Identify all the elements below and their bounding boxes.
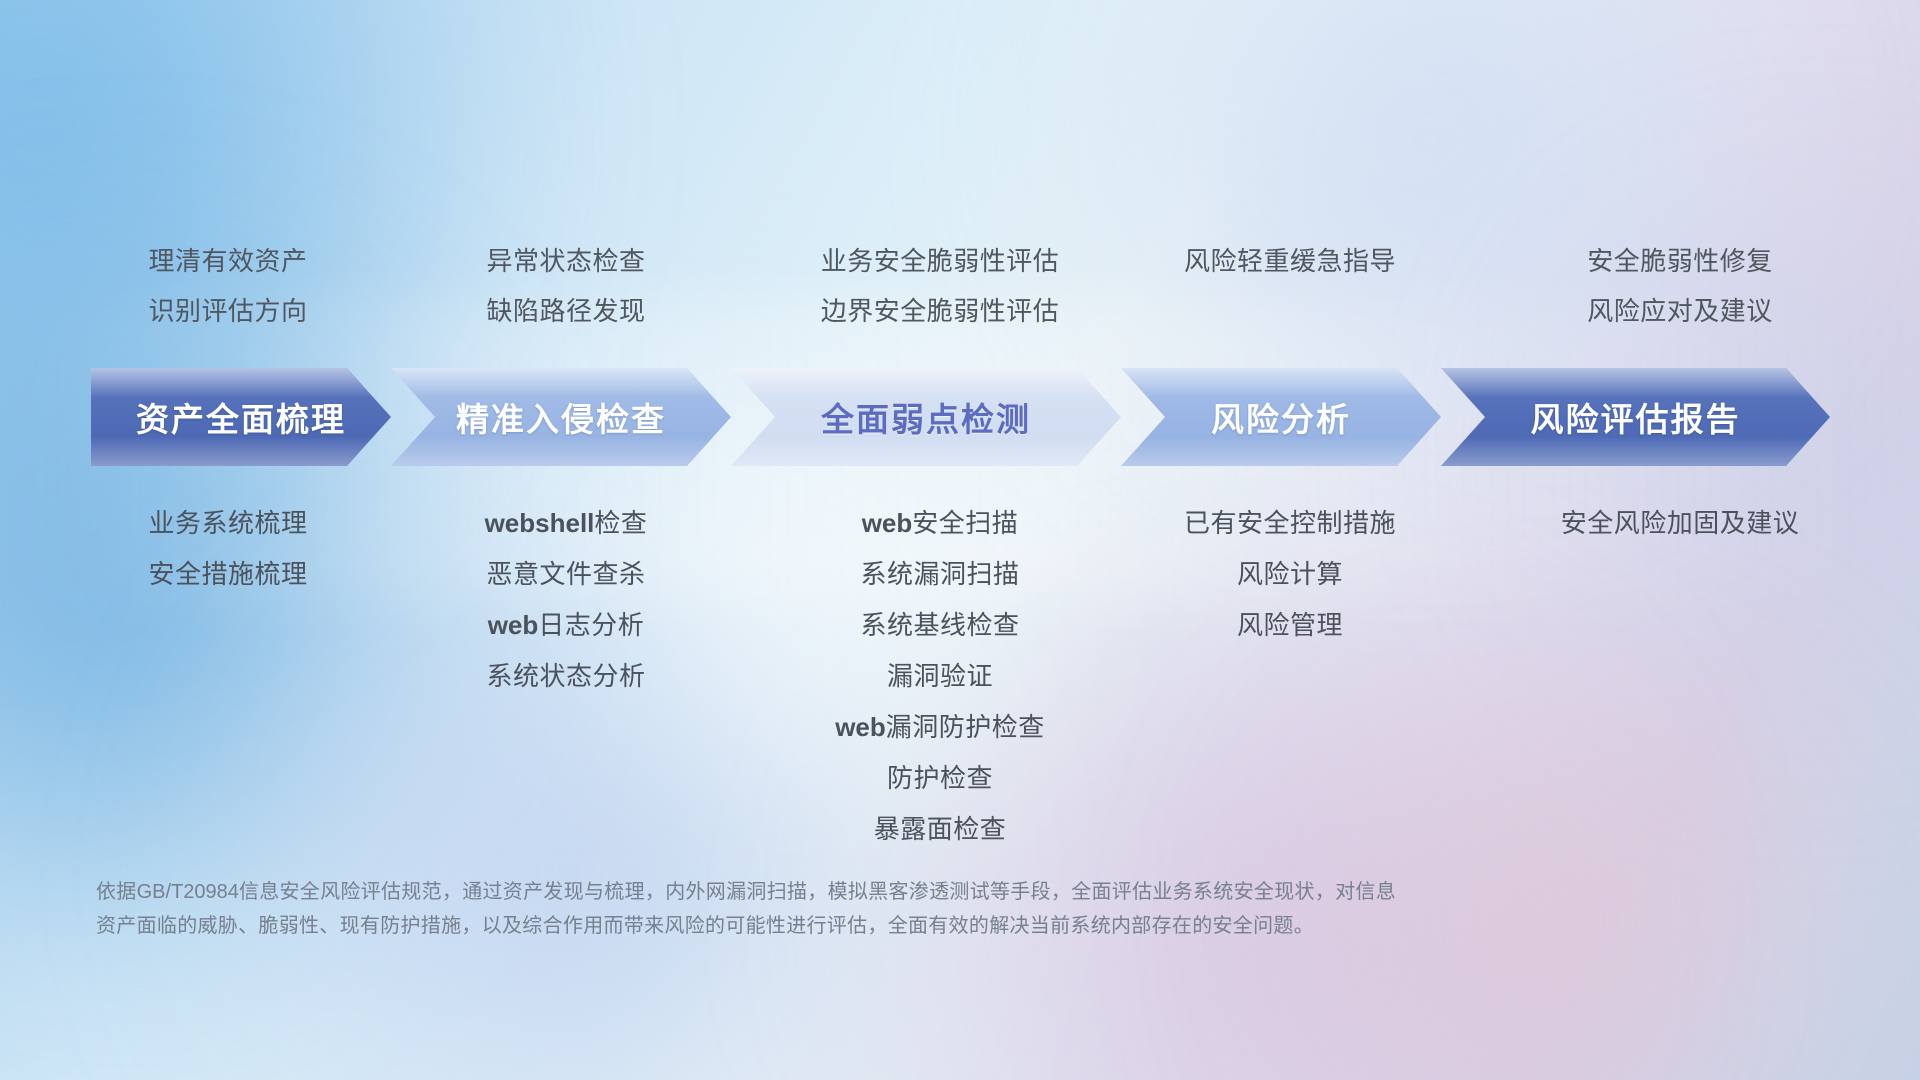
stage-item: 风险管理 [990, 600, 1590, 651]
footer-description: 依据GB/T20984信息安全风险评估规范，通过资产发现与梳理，内外网漏洞扫描，… [96, 875, 1656, 943]
stage-arrow-3[interactable]: 全面弱点检测 [731, 368, 1121, 466]
stage-items-5: 安全风险加固及建议 [1380, 498, 1920, 549]
stage-arrow-label: 全面弱点检测 [821, 393, 1031, 441]
stage-item: 风险计算 [990, 549, 1590, 600]
stage-arrow-label: 资产全面梳理 [136, 393, 346, 441]
top-note: 风险应对及建议 [1380, 286, 1920, 336]
stage-item: 暴露面检查 [640, 804, 1240, 855]
stage-item: 防护检查 [640, 753, 1240, 804]
diagram-canvas: 理清有效资产 识别评估方向 异常状态检查 缺陷路径发现 业务安全脆弱性评估 边界… [0, 0, 1920, 1080]
top-note: 边界安全脆弱性评估 [640, 286, 1240, 336]
stage-arrow-4[interactable]: 风险分析 [1121, 368, 1441, 466]
stage-arrow-5[interactable]: 风险评估报告 [1441, 368, 1830, 466]
footer-line: 资产面临的威胁、脆弱性、现有防护措施，以及综合作用而带来风险的可能性进行评估，全… [96, 909, 1656, 943]
top-note: 安全脆弱性修复 [1380, 236, 1920, 286]
stage-arrow-label: 风险分析 [1211, 393, 1351, 441]
stage-arrow-1[interactable]: 资产全面梳理 [91, 368, 391, 466]
footer-line: 依据GB/T20984信息安全风险评估规范，通过资产发现与梳理，内外网漏洞扫描，… [96, 875, 1656, 909]
process-arrow-band: 资产全面梳理 精准入侵检查 全面弱点检测 风险分析 风险评估报告 [0, 368, 1920, 466]
stage-arrow-label: 精准入侵检查 [456, 393, 666, 441]
stage-item: 漏洞验证 [640, 651, 1240, 702]
stage-item: web漏洞防护检查 [640, 702, 1240, 753]
stage-arrow-label: 风险评估报告 [1531, 393, 1741, 441]
stage-arrow-2[interactable]: 精准入侵检查 [391, 368, 731, 466]
stage-top-notes-5: 安全脆弱性修复 风险应对及建议 [1380, 236, 1920, 336]
stage-item: 安全风险加固及建议 [1380, 498, 1920, 549]
